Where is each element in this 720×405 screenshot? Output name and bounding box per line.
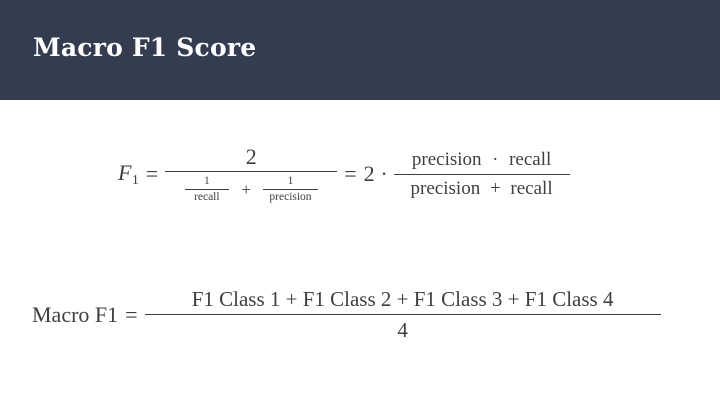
formula-f1-score: F1 = 2 1 recall + 1 precision = 2 · prec… [118, 145, 570, 203]
f1-symbol-subscript: 1 [131, 172, 138, 187]
fraction-bar-outer [165, 171, 337, 172]
harmonic-mean-fraction: 2 1 recall + 1 precision [165, 145, 337, 203]
fraction-bar-macro [145, 314, 661, 315]
product-precision-label: precision [412, 149, 482, 170]
equals-sign-macro: = [118, 302, 144, 328]
precision-recall-sum: precision + recall [405, 179, 559, 199]
plus-sign-denominator: + [485, 178, 506, 199]
sum-recall-label: recall [510, 178, 552, 199]
fraction-bar-right [394, 174, 570, 175]
formula-macro-f1: Macro F1 = F1 Class 1 + F1 Class 2 + F1 … [32, 288, 661, 341]
precision-recall-fraction: precision · recall precision + recall [394, 150, 570, 199]
fraction-bar-inverse-recall [185, 189, 229, 190]
plus-sign-inner: + [234, 180, 258, 199]
equals-sign-1: = [139, 161, 165, 187]
inverse-recall-denominator: recall [188, 191, 226, 203]
sum-precision-label: precision [411, 178, 481, 199]
macro-f1-numerator: F1 Class 1 + F1 Class 2 + F1 Class 3 + F… [186, 288, 620, 310]
f1-symbol: F1 [118, 160, 139, 188]
inverse-precision-numerator: 1 [282, 175, 300, 187]
product-dot: · [486, 149, 504, 169]
macro-f1-label: Macro F1 [32, 302, 118, 328]
fraction-bar-inverse-precision [263, 189, 317, 190]
factor-two: 2 [364, 161, 375, 187]
inverse-recall-fraction: 1 recall [185, 175, 229, 203]
equals-sign-2: = [337, 161, 363, 187]
macro-f1-denominator: 4 [391, 319, 414, 341]
page-title: Macro F1 Score [33, 32, 256, 64]
macro-f1-fraction: F1 Class 1 + F1 Class 2 + F1 Class 3 + F… [145, 288, 661, 341]
f1-symbol-letter: F [118, 160, 131, 185]
inverse-precision-fraction: 1 precision [263, 175, 317, 203]
product-recall-label: recall [509, 149, 551, 170]
multiplication-dot: · [375, 162, 394, 187]
inverse-recall-numerator: 1 [198, 175, 216, 187]
harmonic-numerator: 2 [240, 145, 263, 168]
harmonic-denominator: 1 recall + 1 precision [179, 175, 324, 203]
inverse-precision-denominator: precision [263, 191, 317, 203]
precision-recall-product: precision · recall [406, 150, 557, 170]
